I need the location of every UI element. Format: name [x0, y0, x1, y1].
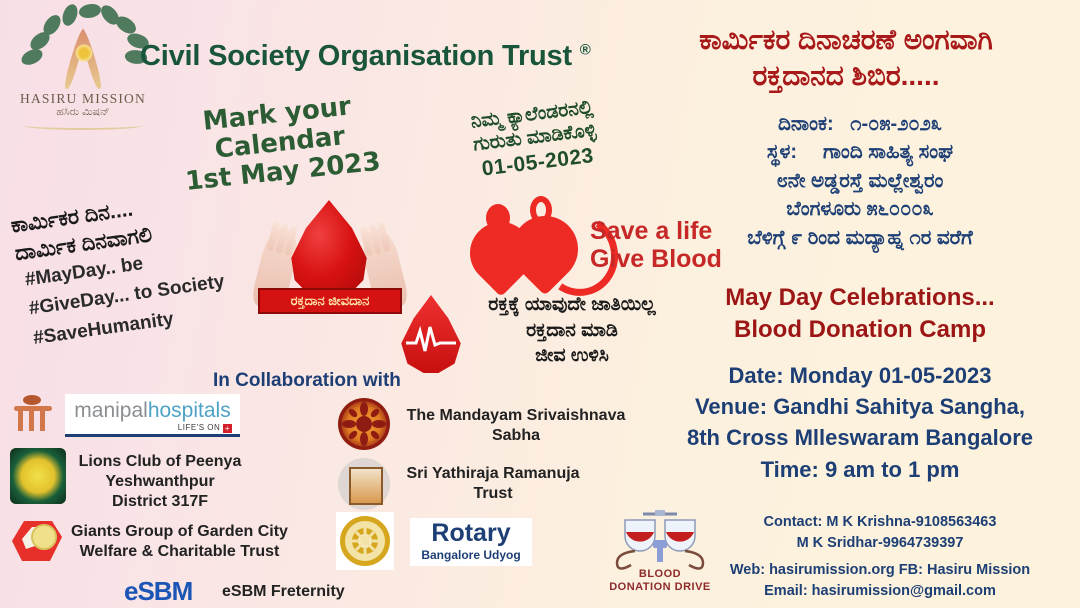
kn-date-row: ದಿನಾಂಕ: ೧-೦೫-೨೦೨೩ [660, 110, 1060, 138]
contact-line1: Contact: M K Krishna-9108563463 [700, 512, 1060, 533]
yathiraja-portrait [349, 467, 383, 505]
registered-mark: ® [580, 41, 591, 58]
en-venue-line2: 8th Cross Mlleswaram Bangalore [660, 422, 1060, 453]
en-head-line1: May Day Celebrations... [660, 282, 1060, 314]
kn-time-line: ಬೆಳಿಗ್ಗೆ ೯ ರಿಂದ ಮದ್ಯಾಹ್ನ ೧ರ ವರೆಗೆ [660, 224, 1060, 252]
mandayam-sabha-icon [338, 398, 390, 450]
page-title: Civil Society Organisation Trust ® [140, 40, 591, 73]
lions-club-name: Lions Club of Peenya Yeshwanthpur Distri… [70, 452, 250, 512]
kn-caste-line2: ರಕ್ತದಾನ ಮಾಡಿ [452, 318, 692, 344]
manipal-tagline: LIFE'S ON [178, 423, 220, 432]
kn-venue-value: ಗಾಂದಿ ಸಾಹಿತ್ಯ ಸಂಘ [823, 138, 953, 166]
logo-name-en: HASIRU MISSION [8, 92, 158, 106]
tree-emblem-icon [13, 4, 153, 92]
manipal-hospitals-icon [8, 393, 60, 433]
kn-date-label: ದಿನಾಂಕ: [778, 113, 834, 135]
lions-line3: District 317F [70, 492, 250, 512]
person-head-icon-outline [530, 196, 552, 224]
contact-email: Email: hasirumission@gmail.com [700, 581, 1060, 602]
rotary-club-logo: Rotary Bangalore Udyog [410, 518, 532, 566]
giants-line2: Welfare & Charitable Trust [62, 542, 297, 562]
esbm-logo-icon: eSBM [124, 576, 192, 607]
contact-block: Contact: M K Krishna-9108563463 M K Srid… [700, 512, 1060, 601]
hospitals-word: hospitals [148, 399, 231, 422]
kn-caste-line3: ಜೀವ ಉಳಿಸಿ [452, 343, 692, 369]
kannada-blood-message: ರಕ್ತಕ್ಕೆ ಯಾವುದೇ ಜಾತಿಯಿಲ್ಲ ರಕ್ತದಾನ ಮಾಡಿ ಜ… [452, 292, 692, 369]
mandayam-line1: The Mandayam Srivaishnava [396, 406, 636, 426]
kn-head-line1: ಕಾರ್ಮಿಕರ ದಿನಾಚರಣೆ ಅಂಗವಾಗಿ [636, 22, 1056, 58]
rotary-line2: Bangalore Udyog [410, 548, 532, 562]
drop-banner-label: ರಕ್ತದಾನ ಜೀವದಾನ [258, 288, 402, 314]
kn-venue-line2: ೮ನೇ ಅಡ್ಡರಸ್ತೆ ಮಲ್ಲೇಶ್ವರಂ [660, 167, 1060, 195]
kn-venue-label: ಸ್ಥಳ: [767, 138, 797, 166]
contact-spacer [700, 553, 1060, 560]
kn-venue-line3: ಬೆಂಗಳೂರು ೫೬೦೦೦೩ [660, 195, 1060, 223]
yathiraja-line1: Sri Yathiraja Ramanuja [398, 464, 588, 484]
logo-swoosh [23, 121, 143, 130]
event-details-kn: ದಿನಾಂಕ: ೧-೦೫-೨೦೨೩ ಸ್ಥಳ: ಗಾಂದಿ ಸಾಹಿತ್ಯ ಸಂ… [660, 110, 1060, 252]
rotary-wheel-icon [336, 512, 394, 570]
mark-calendar-kn: ನಿಮ್ಮ ಕ್ಯಾಲೆಂಡರನಲ್ಲಿ ಗುರುತು ಮಾಡಿಕೊಳ್ಳಿ 0… [426, 91, 643, 187]
poster-canvas: HASIRU MISSION ಹಸಿರು ಮಿಷನ್ Civil Society… [0, 0, 1080, 608]
contact-web-fb: Web: hasirumission.org FB: Hasiru Missio… [700, 560, 1060, 581]
hasiru-mission-logo: HASIRU MISSION ಹಸಿರು ಮಿಷನ್ [8, 4, 158, 126]
en-head-line2: Blood Donation Camp [660, 314, 1060, 346]
event-heading-en: May Day Celebrations... Blood Donation C… [660, 282, 1060, 346]
giants-group-name: Giants Group of Garden City Welfare & Ch… [62, 522, 297, 562]
mandayam-line2: Sabha [396, 426, 636, 446]
yathiraja-trust-name: Sri Yathiraja Ramanuja Trust [398, 464, 588, 504]
kn-caste-line1: ರಕ್ತಕ್ಕೆ ಯಾವುದೇ ಜಾತಿಯಿಲ್ಲ [452, 292, 692, 318]
contact-line2: M K Sridhar-9964739397 [700, 533, 1060, 554]
rotary-line1: Rotary [410, 518, 532, 548]
mark-calendar-en: Mark your Calendar 1st May 2023 [136, 86, 424, 202]
collaboration-heading: In Collaboration with [213, 370, 401, 392]
giants-line1: Giants Group of Garden City [62, 522, 297, 542]
kn-head-line2: ರಕ್ತದಾನದ ಶಿಬಿರ..... [636, 58, 1056, 94]
manipal-word: manipal [74, 399, 148, 422]
esbm-name: eSBM Freternity [222, 582, 392, 602]
manipal-hospitals-logo: manipalhospitals LIFE'S ON + [65, 394, 240, 437]
en-time: Time: 9 am to 1 pm [660, 454, 1060, 485]
org-title-text: Civil Society Organisation Trust [140, 40, 572, 72]
mandayam-sabha-name: The Mandayam Srivaishnava Sabha [396, 406, 636, 446]
plus-icon: + [223, 424, 232, 433]
person-head-icon-filled [486, 204, 510, 232]
lions-line1: Lions Club of Peenya [70, 452, 250, 472]
lions-club-icon [10, 448, 66, 504]
en-date: Date: Monday 01-05-2023 [660, 360, 1060, 391]
yathiraja-line2: Trust [398, 484, 588, 504]
kn-date-value: ೧-೦೫-೨೦೨೩ [850, 113, 942, 135]
kn-venue-row: ಸ್ಥಳ: ಗಾಂದಿ ಸಾಹಿತ್ಯ ಸಂಘ [660, 138, 1060, 166]
event-details-en: Date: Monday 01-05-2023 Venue: Gandhi Sa… [660, 360, 1060, 485]
lions-line2: Yeshwanthpur [70, 472, 250, 492]
event-heading-kn: ಕಾರ್ಮಿಕರ ದಿನಾಚರಣೆ ಅಂಗವಾಗಿ ರಕ್ತದಾನದ ಶಿಬಿರ… [636, 22, 1056, 94]
en-venue-line1: Venue: Gandhi Sahitya Sangha, [660, 391, 1060, 422]
yathiraja-trust-icon [338, 458, 390, 510]
giants-group-icon [8, 515, 66, 567]
